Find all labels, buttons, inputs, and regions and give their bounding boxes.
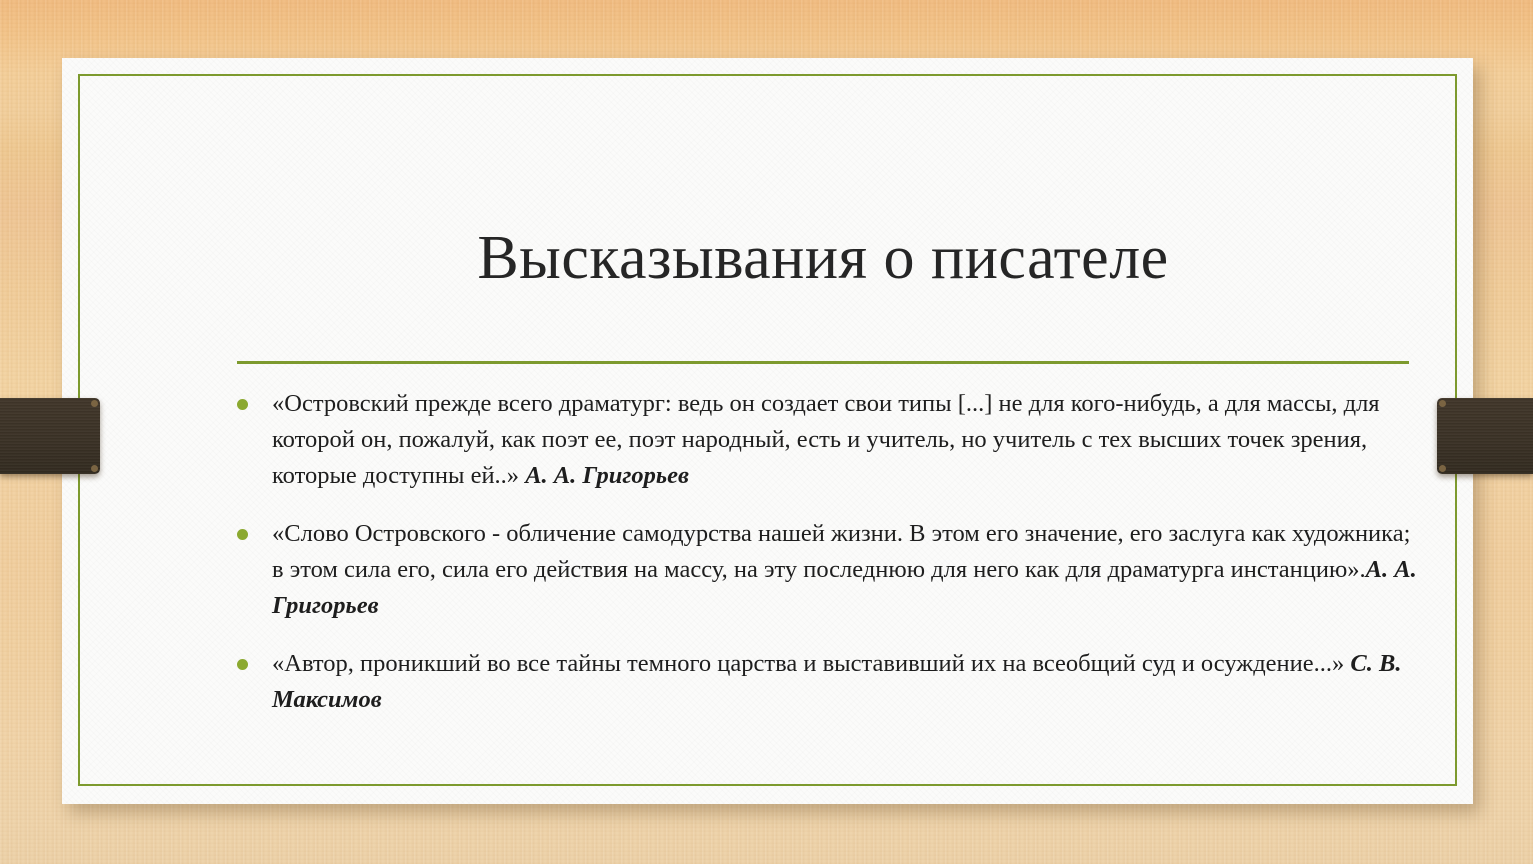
slide-title: Высказывания о писателе	[237, 226, 1409, 291]
slide-card: Высказывания о писателе «Островский преж…	[62, 58, 1473, 804]
quote-text-block: «Слово Островского - обличение самодурст…	[272, 516, 1424, 624]
quote-text-block: «Автор, проникший во все тайны темного ц…	[272, 646, 1424, 718]
title-divider	[237, 361, 1409, 364]
bullet-dot-icon	[237, 529, 248, 540]
quote-author: А. А. Григорьев	[525, 462, 689, 489]
ribbon-cap-icon	[1439, 400, 1446, 407]
ribbon-decoration-left	[0, 398, 100, 474]
list-item: «Автор, проникший во все тайны темного ц…	[234, 646, 1424, 718]
ribbon-cap-icon	[91, 400, 98, 407]
ribbon-decoration-right	[1437, 398, 1533, 474]
list-item: «Островский прежде всего драматург: ведь…	[234, 386, 1424, 494]
bullet-dot-icon	[237, 399, 248, 410]
quote-text: «Слово Островского - обличение самодурст…	[272, 520, 1410, 583]
quote-text: «Автор, проникший во все тайны темного ц…	[272, 650, 1350, 677]
bullet-dot-icon	[237, 659, 248, 670]
ribbon-cap-icon	[91, 465, 98, 472]
list-item: «Слово Островского - обличение самодурст…	[234, 516, 1424, 624]
quote-text-block: «Островский прежде всего драматург: ведь…	[272, 386, 1424, 494]
ribbon-cap-icon	[1439, 465, 1446, 472]
quote-list: «Островский прежде всего драматург: ведь…	[234, 386, 1424, 718]
quote-text: «Островский прежде всего драматург: ведь…	[272, 390, 1380, 489]
